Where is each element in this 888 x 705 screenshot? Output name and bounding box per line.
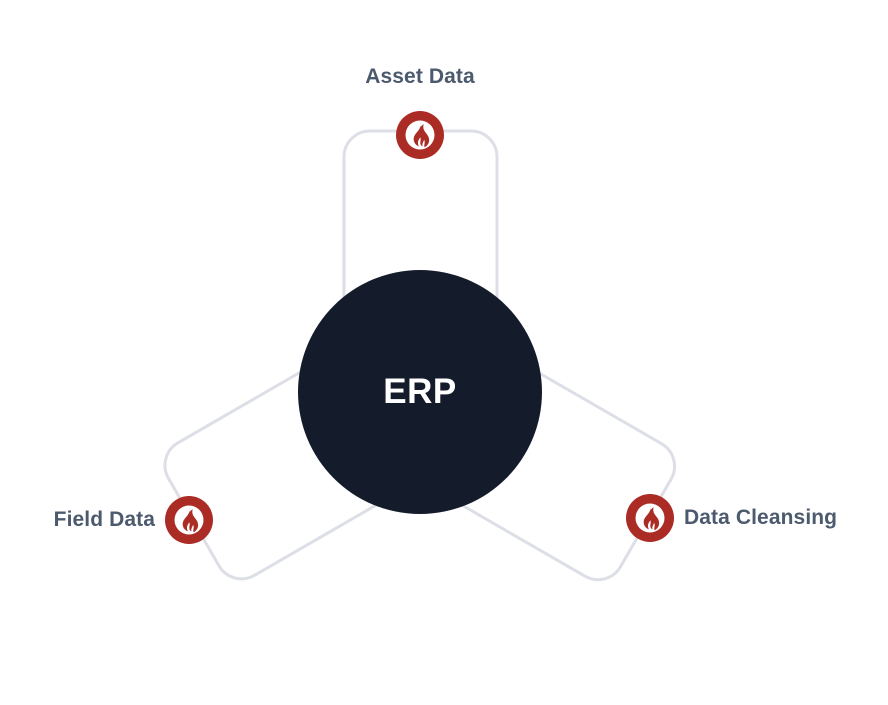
diagram-canvas bbox=[0, 0, 888, 705]
node-asset-data-label: Asset Data bbox=[365, 65, 475, 89]
erp-diagram: ERP Asset Data Field Data Data Clea bbox=[0, 0, 888, 705]
erp-hub-label: ERP bbox=[298, 371, 542, 413]
node-data-cleansing-label: Data Cleansing bbox=[684, 506, 837, 530]
node-field-data-label: Field Data bbox=[54, 508, 155, 532]
node-asset-data[interactable]: Asset Data bbox=[396, 111, 444, 159]
flame-icon bbox=[165, 496, 213, 544]
node-field-data[interactable]: Field Data bbox=[165, 496, 213, 544]
node-data-cleansing[interactable]: Data Cleansing bbox=[626, 494, 674, 542]
flame-icon bbox=[626, 494, 674, 542]
flame-icon bbox=[396, 111, 444, 159]
